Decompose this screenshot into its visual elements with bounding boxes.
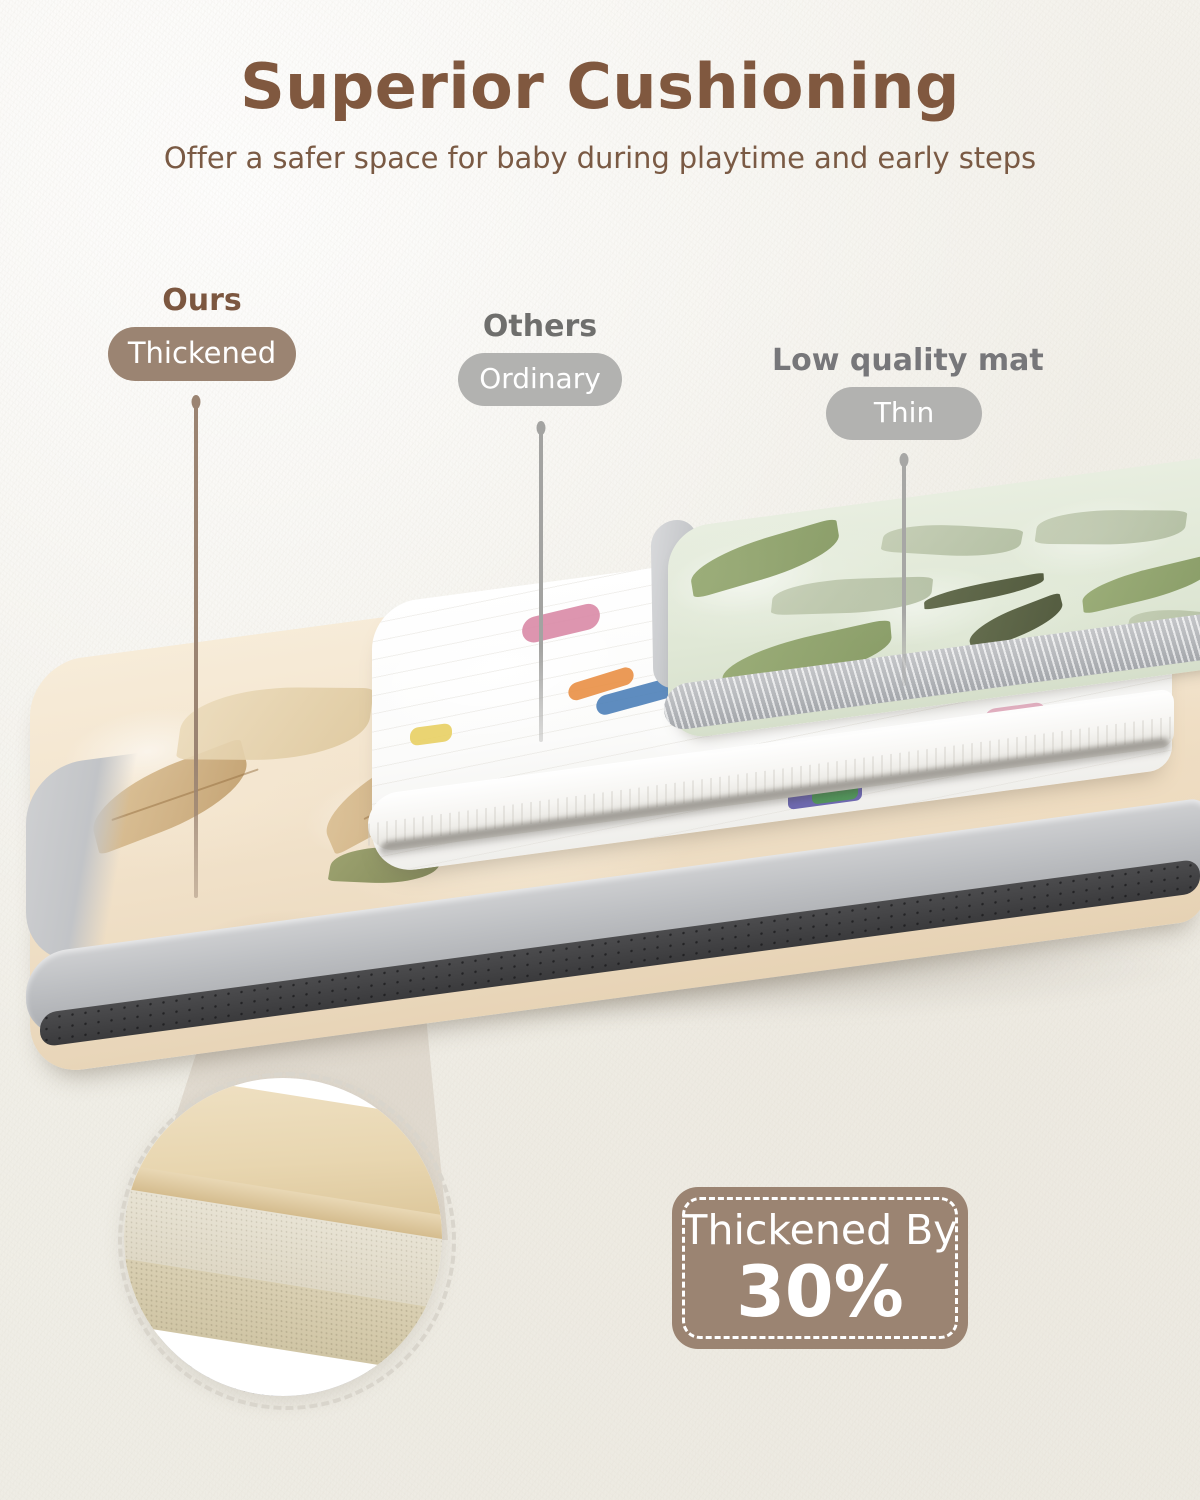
- callout-ours: Ours Thickened: [103, 286, 301, 381]
- mat-thick-left-corner: [26, 752, 146, 968]
- callout-caption-low-quality: Low quality mat: [772, 346, 1036, 376]
- pointer-line-others: [535, 424, 547, 742]
- badge-pill-thickened: Thickened: [108, 327, 296, 381]
- badge-pill-ordinary: Ordinary: [458, 353, 622, 406]
- pointer-line-lowquality: [898, 456, 910, 686]
- pointer-stem-ours: [194, 398, 198, 898]
- badge-pill-thin: Thin: [826, 387, 982, 440]
- header-block: Superior Cushioning Offer a safer space …: [0, 54, 1200, 175]
- thickened-by-badge: Thickened By 30%: [672, 1187, 968, 1349]
- callout-others: Others Ordinary: [440, 312, 640, 406]
- callout-caption-ours: Ours: [103, 286, 301, 316]
- badge-value-percent: 30%: [736, 1257, 904, 1327]
- infographic-page: Superior Cushioning Offer a safer space …: [0, 0, 1200, 1500]
- pointer-stem-others: [539, 424, 543, 742]
- pointer-line-ours: [190, 398, 202, 898]
- cross-section-inset: [124, 1078, 442, 1396]
- badge-label-thickened-by: Thickened By: [682, 1210, 957, 1251]
- pointer-stem-lowquality: [902, 456, 906, 686]
- page-subtitle: Offer a safer space for baby during play…: [0, 141, 1200, 175]
- page-title: Superior Cushioning: [0, 54, 1200, 119]
- callout-low-quality: Low quality mat Thin: [772, 346, 1036, 440]
- callout-caption-others: Others: [440, 312, 640, 342]
